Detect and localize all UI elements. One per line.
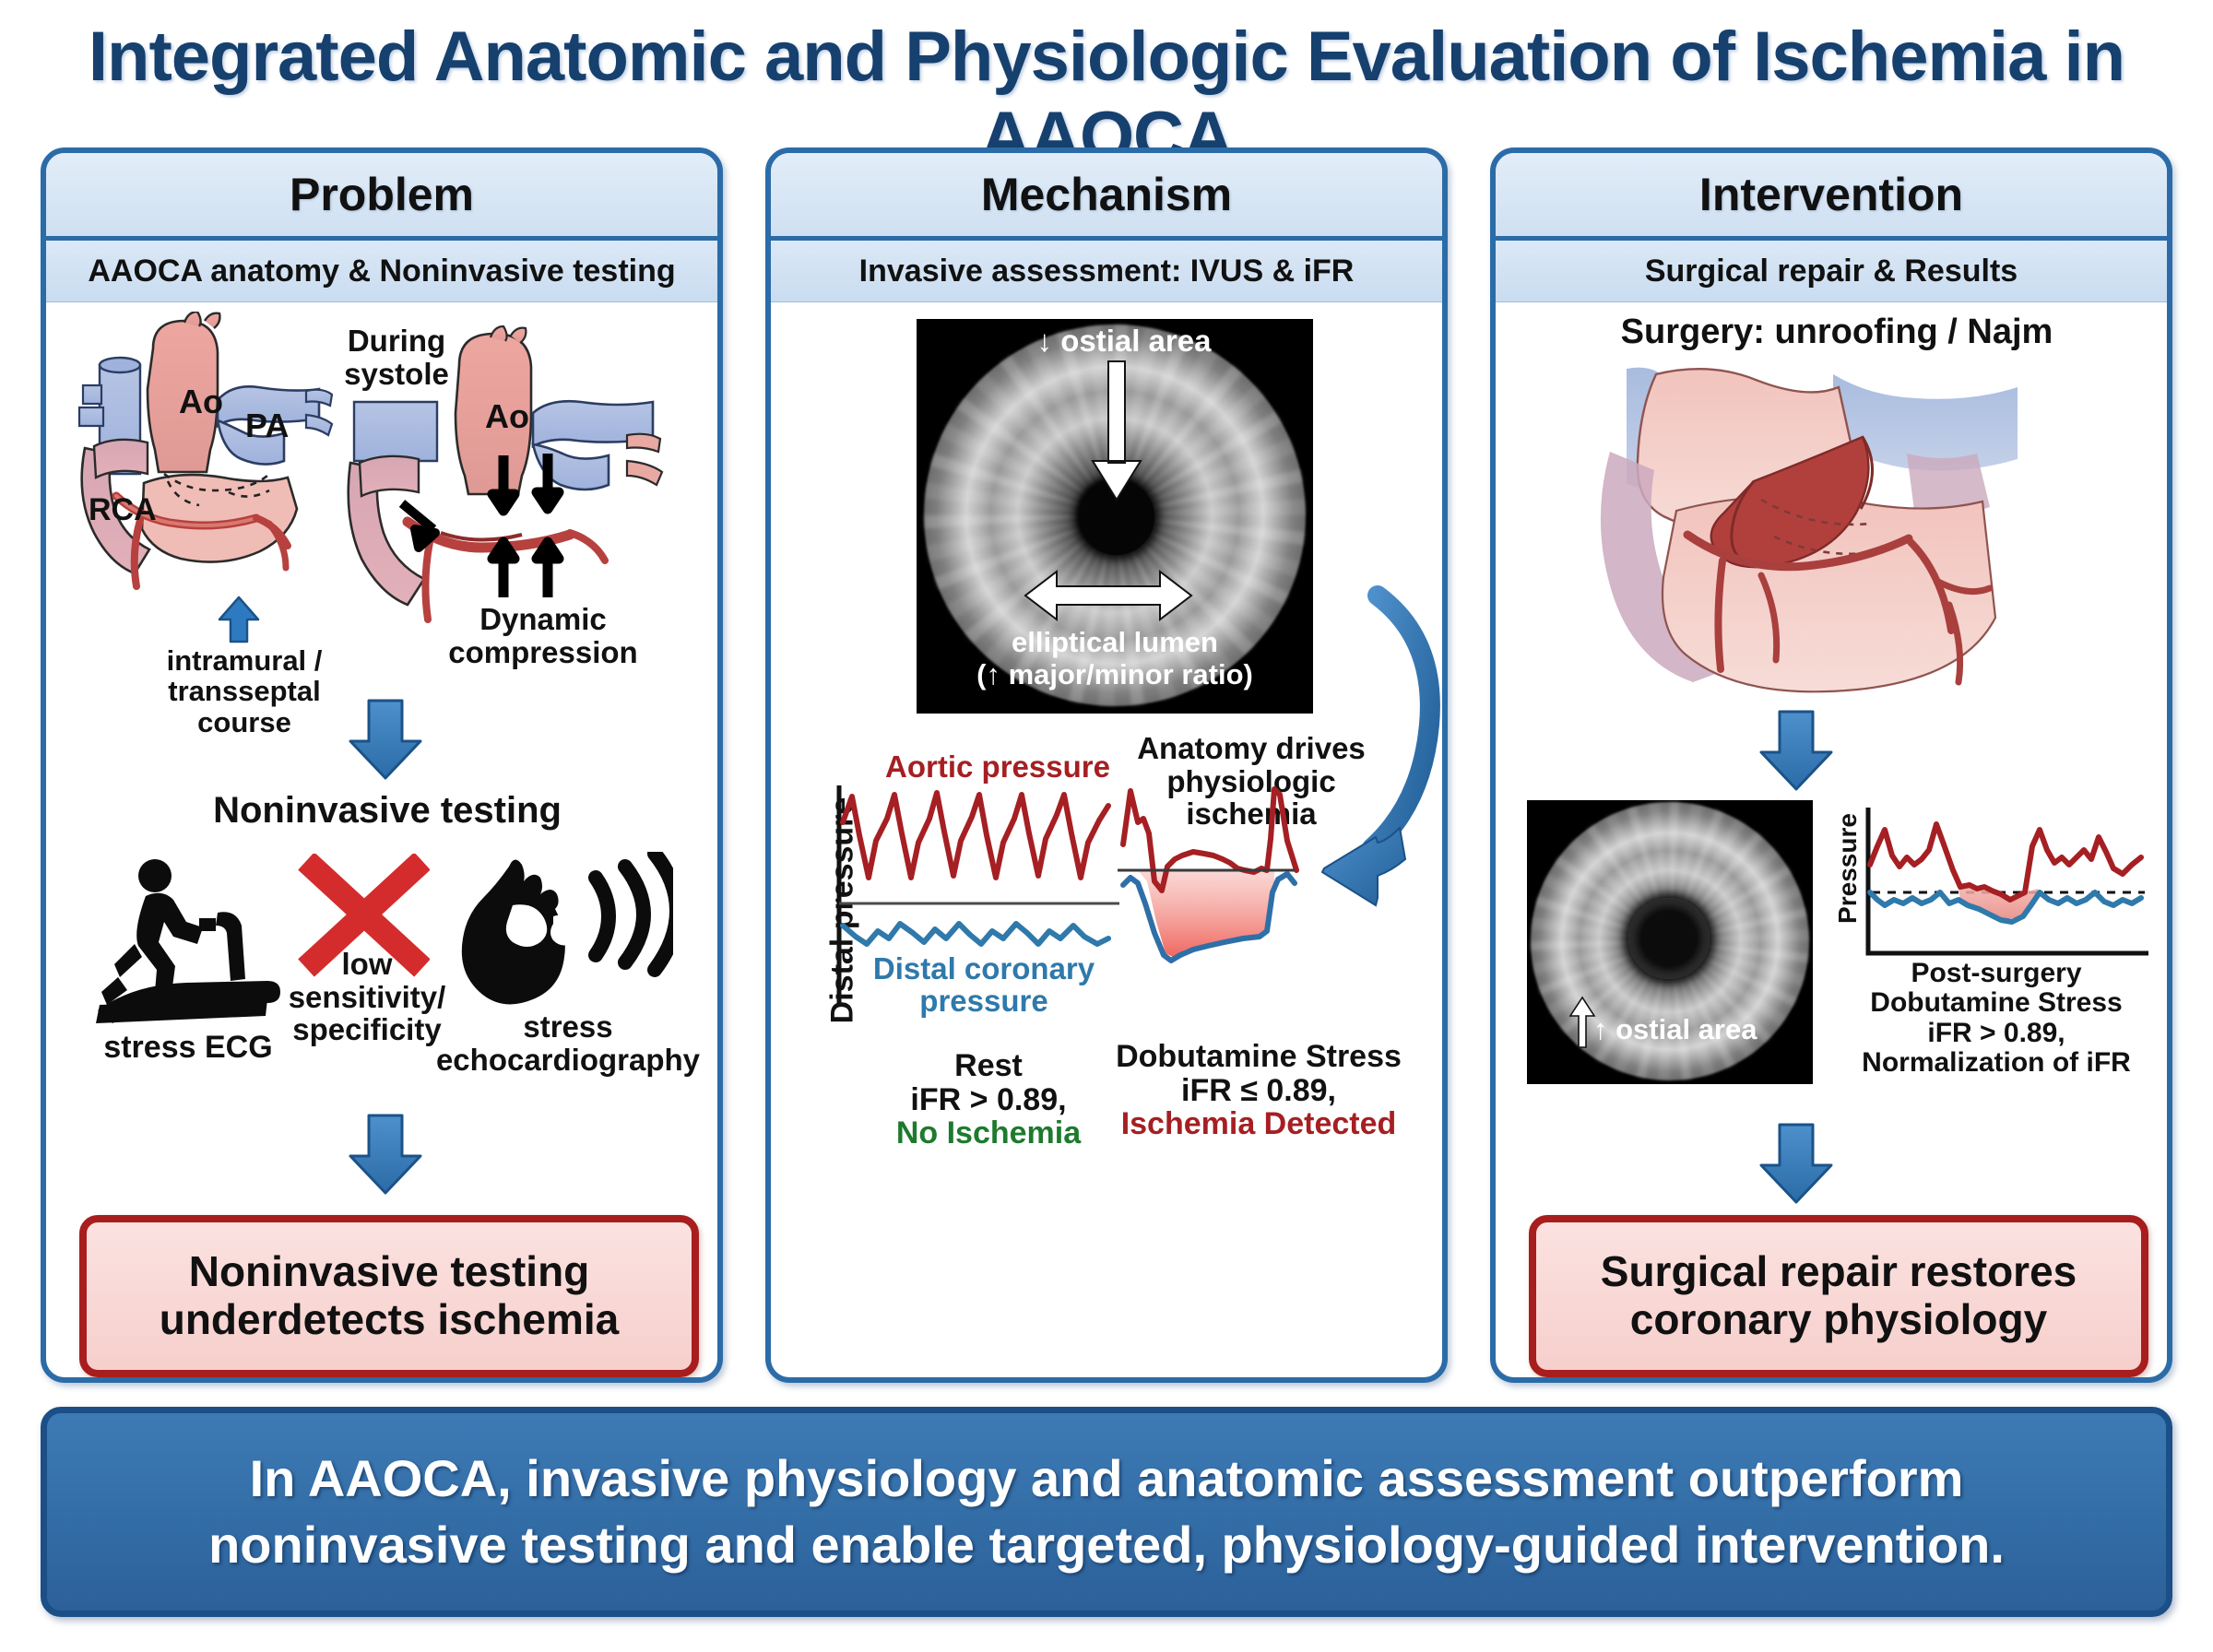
stress-echo-label: stress echocardiography (430, 1010, 706, 1076)
intervention-conclusion-box: Surgical repair restores coronary physio… (1529, 1215, 2148, 1377)
summary-banner-text: In AAOCA, invasive physiology and anatom… (172, 1445, 2041, 1577)
panel-intervention: Intervention Surgical repair & Results S… (1490, 147, 2172, 1383)
panel-mechanism-body: ↓ ostial area elliptical lumen (↑ major/… (771, 302, 1442, 1383)
low-sensitivity-label: low sensitivity/ specificity (284, 948, 450, 1046)
panel-intervention-body: Surgery: unroofing / Najm (1496, 302, 2167, 1383)
problem-conclusion-box: Noninvasive testing underdetects ischemi… (79, 1215, 699, 1377)
stress-ecg-label: stress ECG (68, 1031, 308, 1065)
ivus-ostial-area-label: ↓ ostial area (972, 324, 1276, 359)
rest-ifr-caption: Rest iFR > 0.89, No Ischemia (859, 1049, 1118, 1150)
panel-problem-body: Ao PA RCA intramural / transseptal cours… (46, 302, 717, 1383)
treadmill-runner-icon (90, 855, 284, 1031)
surgery-label: Surgery: unroofing / Najm (1579, 313, 2095, 351)
surgical-unroofing-illustration (1556, 363, 2110, 695)
flow-arrow-down-3-icon (1754, 708, 1839, 793)
heart-ultrasound-icon (452, 852, 673, 1009)
svg-text:Ao: Ao (485, 397, 529, 435)
ivus-postop-ostial-area-label: ↑ ostial area (1593, 1014, 1804, 1046)
svg-text:Ao: Ao (179, 383, 223, 420)
flow-arrow-down-1-icon (343, 697, 428, 782)
panel-problem: Problem AAOCA anatomy & Noninvasive test… (41, 147, 723, 1383)
dynamic-compression-label: Dynamic compression (428, 603, 658, 668)
intramural-callout-arrow-icon (218, 596, 260, 643)
aortic-pressure-legend: Aortic pressure (878, 750, 1118, 784)
svg-text:PA: PA (245, 407, 289, 444)
postop-stress-caption: Post-surgery Dobutamine Stress iFR > 0.8… (1826, 959, 2167, 1079)
svg-text:RCA: RCA (89, 492, 157, 527)
noninvasive-testing-section-label: Noninvasive testing (129, 791, 645, 831)
summary-banner: In AAOCA, invasive physiology and anatom… (41, 1407, 2172, 1617)
ivus-preop-image: ↓ ostial area elliptical lumen (↑ major/… (917, 319, 1313, 714)
distal-coronary-pressure-legend: Distal coronarypressure (869, 953, 1099, 1017)
panel-mechanism-header: Mechanism (771, 153, 1442, 241)
panel-mechanism-subheader: Invasive assessment: IVUS & iFR (771, 241, 1442, 302)
dobutamine-stress-tracing (1116, 782, 1374, 1021)
panel-problem-subheader: AAOCA anatomy & Noninvasive testing (46, 241, 717, 302)
ivus-elliptical-lumen-label: elliptical lumen (↑ major/minor ratio) (926, 627, 1304, 690)
flow-arrow-down-4-icon (1754, 1121, 1839, 1206)
panel-intervention-header: Intervention (1496, 153, 2167, 241)
intramural-course-label: intramural / transseptal course (129, 645, 360, 737)
stress-ifr-caption: Dobutamine Stress iFR ≤ 0.89, Ischemia D… (1106, 1040, 1411, 1141)
panel-intervention-subheader: Surgical repair & Results (1496, 241, 2167, 302)
panel-problem-header: Problem (46, 153, 717, 241)
flow-arrow-down-2-icon (343, 1112, 428, 1197)
ivus-postop-image: ↑ ostial area (1527, 800, 1813, 1084)
panel-mechanism: Mechanism Invasive assessment: IVUS & iF… (765, 147, 1448, 1383)
